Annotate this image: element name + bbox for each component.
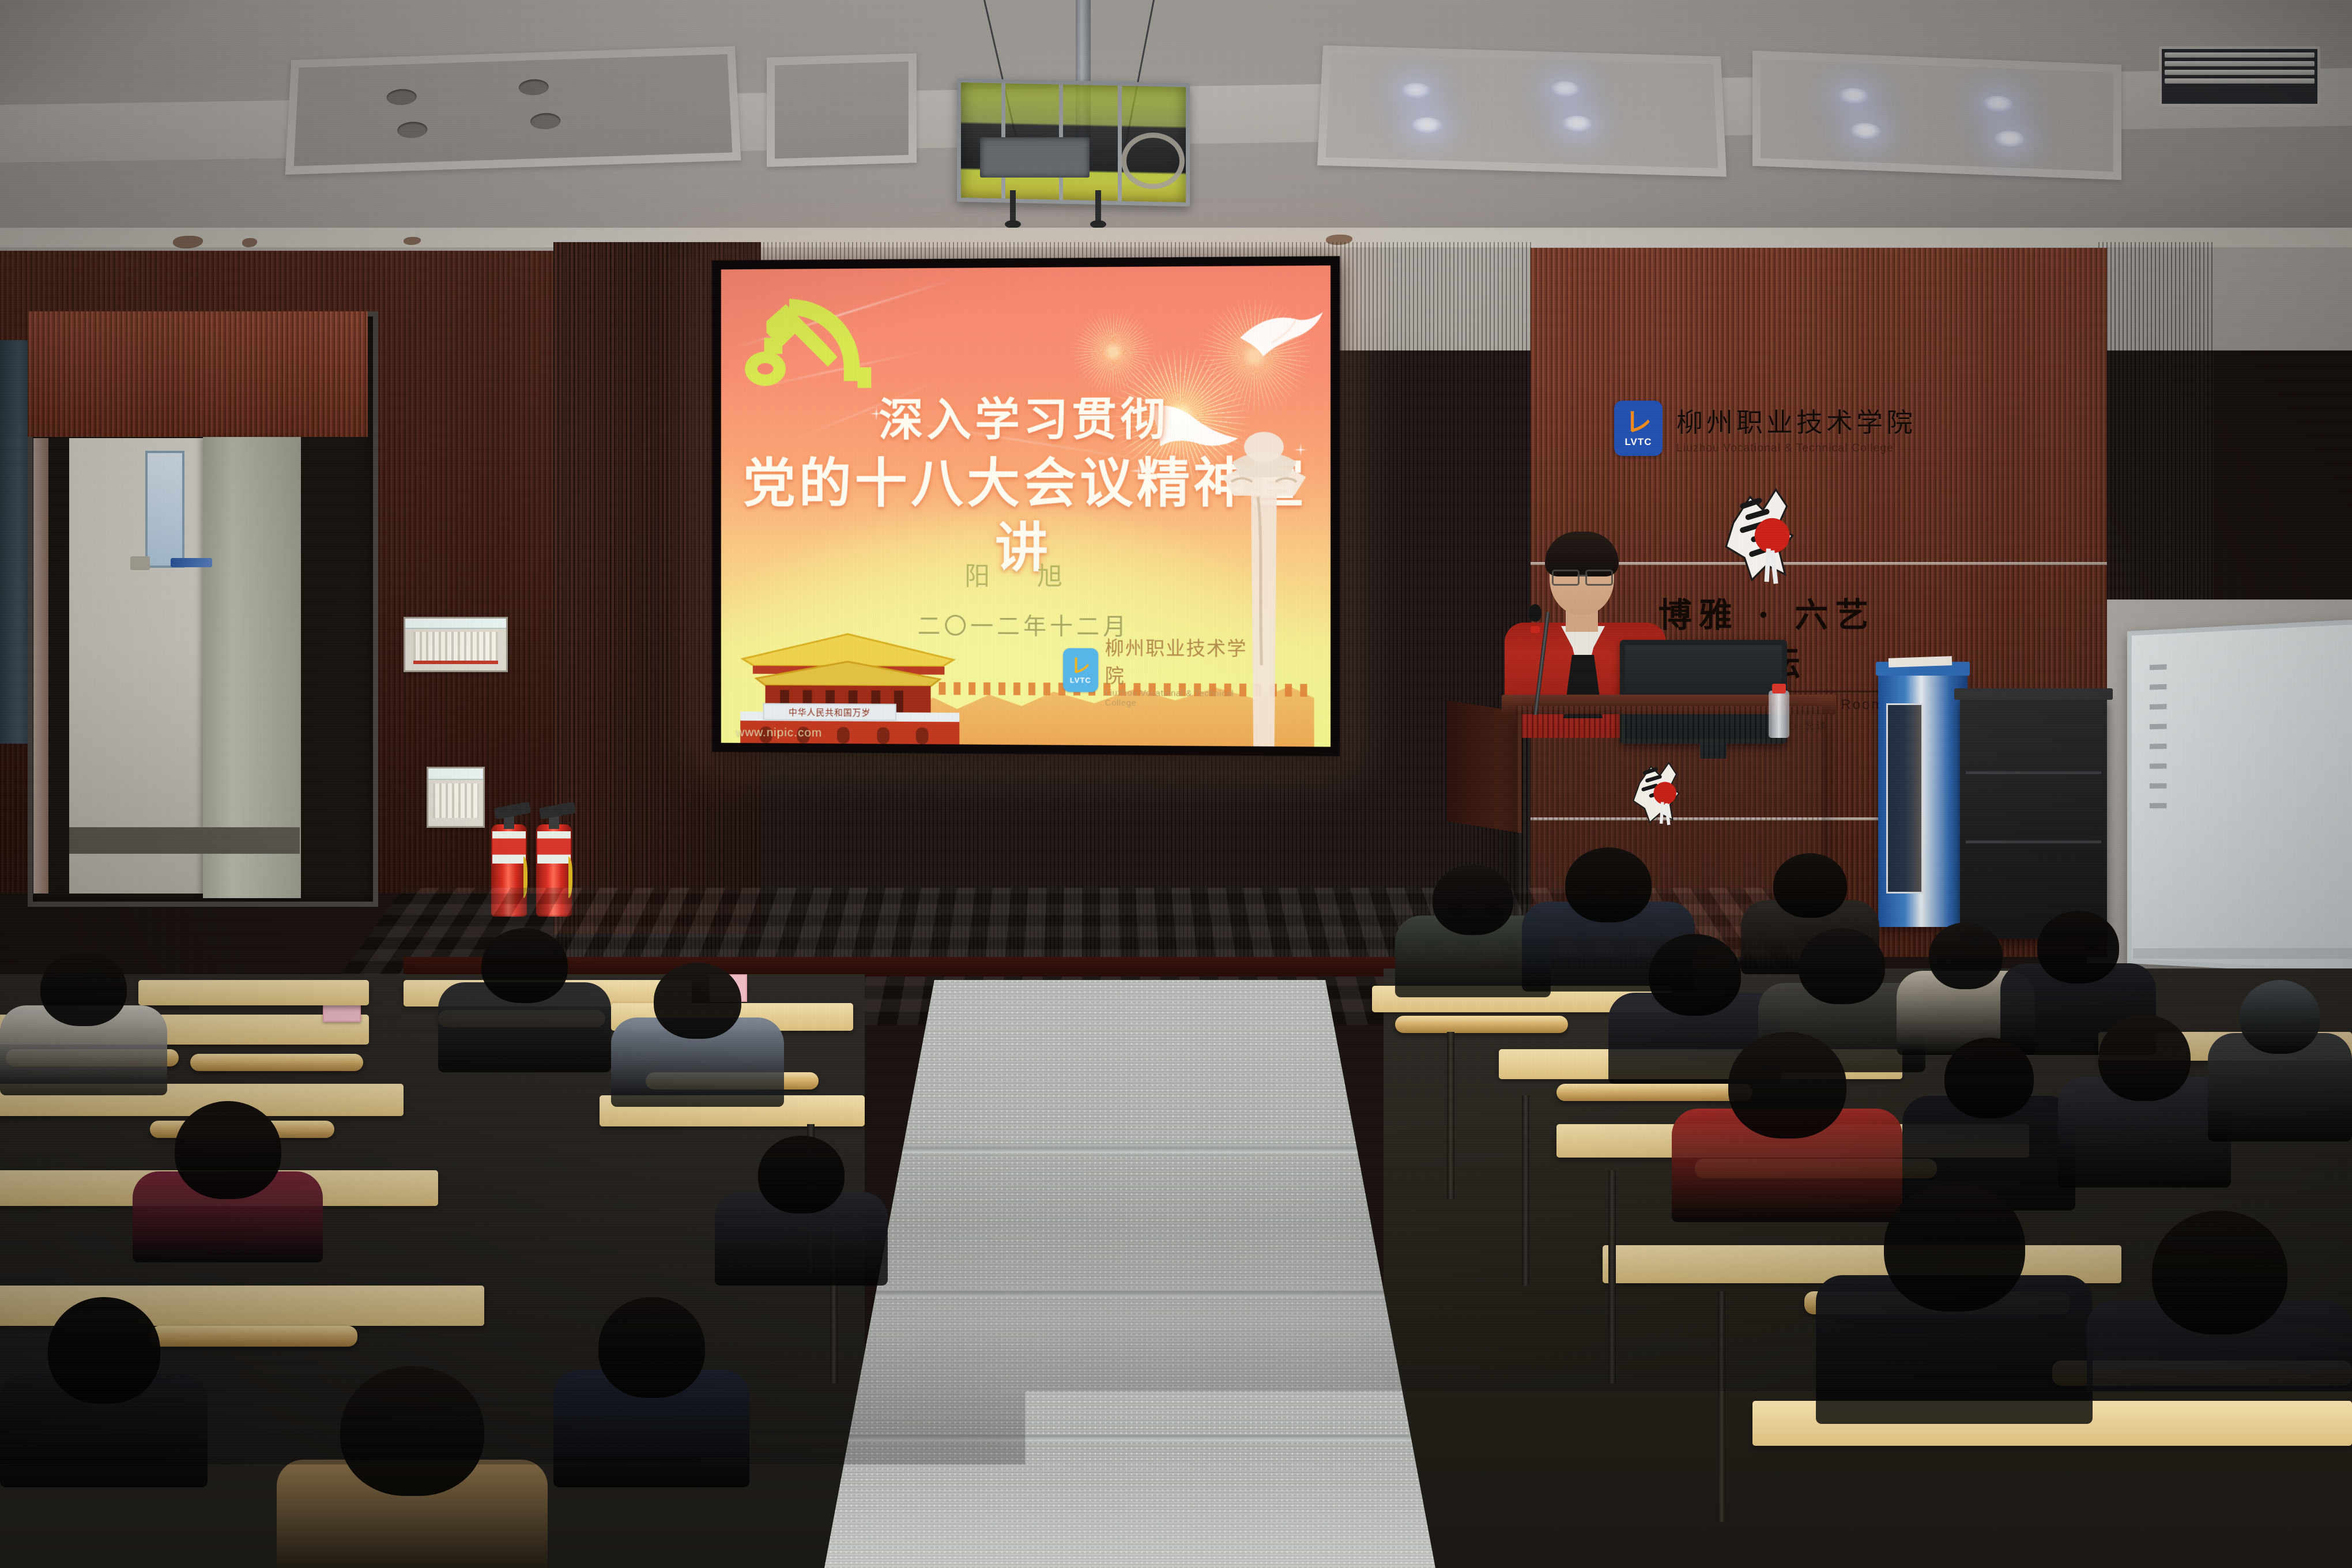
downlight-icon (519, 79, 549, 96)
downlight-icon (530, 112, 560, 130)
projector-adjuster (1095, 190, 1101, 223)
door-lock-icon[interactable] (130, 556, 150, 570)
person-head (1565, 847, 1652, 922)
person-head (175, 1101, 281, 1199)
wall-stain (242, 238, 257, 247)
projector-icon (980, 137, 1090, 178)
electrical-distribution-panel[interactable] (404, 617, 508, 672)
person-head (1799, 928, 1885, 1004)
slide-college-logo: レ LVTC 柳州职业技术学院 Liuzhou Vocational & Tec… (1063, 644, 1254, 696)
person-head (1773, 853, 1847, 918)
person-head (481, 928, 568, 1003)
downlight-icon (386, 89, 417, 105)
attendee-dark-navy (553, 1297, 749, 1487)
attendee-gray-blue (611, 963, 784, 1107)
microphone-indicator (1531, 626, 1540, 633)
blue-equipment-cabinet[interactable] (1878, 673, 1967, 927)
lvtc-tag: LVTC (1070, 676, 1091, 684)
calligraphy-seal-icon (1715, 478, 1807, 594)
door-header-panel (28, 311, 368, 437)
person-head (2152, 1211, 2287, 1335)
person-head (1649, 934, 1741, 1016)
projection-screen: 深入学习贯彻 党的十八大会议精神宣讲 阳 旭 二〇一二年十二月 (712, 256, 1340, 756)
door-jamb-trim (33, 438, 48, 894)
person-head (340, 1366, 484, 1496)
person-head (654, 963, 741, 1039)
person-head (1728, 1032, 1846, 1139)
ceiling-coffer-left (285, 46, 741, 175)
attendee-brown-collar (277, 1366, 548, 1568)
center-aisle-steps (824, 980, 1435, 1568)
dove-icon (1235, 306, 1329, 376)
attendee-black-jacket-c (0, 1297, 208, 1487)
corridor-baseboard (69, 827, 300, 854)
downlight-icon (1850, 122, 1880, 140)
person-head (1929, 922, 2003, 989)
microphone-head-icon (1529, 604, 1541, 621)
ceiling-vent-icon (2159, 46, 2320, 107)
water-bottle (1769, 691, 1789, 738)
downlight-icon (1983, 95, 2013, 112)
person-head (2098, 1015, 2191, 1101)
corridor-window (145, 451, 184, 568)
college-name-cn: 柳州职业技术学院 (1676, 402, 1916, 440)
coiled-cable (1121, 133, 1185, 189)
downlight-icon (397, 122, 428, 139)
downlight-icon (1401, 82, 1431, 99)
tiananmen-banner-text: 中华人民共和国万岁 (789, 706, 870, 718)
attendee-front-dark (1816, 1182, 2093, 1424)
college-sign: レ LVTC 柳州职业技术学院 Liuzhou Vocational & Tec… (1614, 401, 1916, 456)
whiteboard[interactable] (2127, 619, 2352, 977)
person-head (1884, 1182, 2025, 1311)
downlight-icon (1995, 130, 2025, 148)
tiananmen-banner: 中华人民共和国万岁 (763, 703, 896, 721)
person-head (2037, 911, 2119, 983)
door-handle-icon[interactable] (171, 558, 212, 567)
slide-logo-en: Liuzhou Vocational & Technical College (1105, 688, 1254, 709)
ceiling-coffer-far-right (1752, 51, 2121, 180)
wall-stain (173, 236, 203, 248)
black-av-rack[interactable] (1960, 696, 2107, 938)
attendee-white-jacket (0, 951, 167, 1095)
lvtc-logo-icon: レ LVTC (1063, 648, 1098, 692)
wall-stain (404, 237, 421, 245)
bench-seatback (190, 1054, 363, 1071)
person-head (758, 1136, 845, 1213)
person-head (1433, 865, 1513, 935)
nipic-watermark: www.nipic.com (736, 726, 822, 740)
attendee-dark-jacket (438, 928, 611, 1072)
ceiling-coffer-right (1317, 46, 1727, 177)
college-name-en: Liuzhou Vocational & Technical College (1676, 442, 1916, 455)
fire-alarm-panel[interactable] (427, 767, 485, 828)
attendee-front-right (2087, 1211, 2352, 1453)
attendee-maroon-sweater (133, 1101, 323, 1262)
attendee-long-hair (2058, 1015, 2231, 1188)
lvtc-glyph: レ (1071, 656, 1090, 676)
lectern-side (1447, 700, 1522, 834)
person-head (48, 1297, 160, 1404)
attendee-dark-coat-b (715, 1136, 888, 1286)
lvtc-glyph: レ (1625, 409, 1652, 435)
attendee-cap-gray (2208, 980, 2352, 1141)
person-head (598, 1297, 705, 1398)
projector-adjuster (1010, 190, 1016, 223)
slide-logo-cn: 柳州职业技术学院 (1105, 632, 1254, 689)
downlight-icon (1562, 115, 1593, 132)
downlight-icon (1551, 81, 1581, 97)
presentation-slide: 深入学习贯彻 党的十八大会议精神宣讲 阳 旭 二〇一二年十二月 (721, 265, 1330, 747)
person-head (2240, 980, 2320, 1054)
lvtc-tag: LVTC (1624, 436, 1652, 448)
lvtc-logo-icon: レ LVTC (1614, 401, 1663, 456)
downlight-icon (1839, 87, 1869, 104)
bench-seatback (1395, 1016, 1568, 1033)
lecture-hall-photo: レ LVTC 柳州职业技术学院 Liuzhou Vocational & Tec… (0, 0, 2352, 1568)
downlight-icon (1412, 117, 1442, 134)
ceiling-coffer-mid (767, 53, 917, 167)
person-head (1944, 1038, 2034, 1118)
person-head (40, 951, 127, 1026)
whiteboard-writing (2150, 664, 2167, 821)
lectern-seal-icon (1626, 755, 1689, 830)
whiteboard-tray (2133, 948, 2352, 959)
glasses-icon (1552, 570, 1613, 582)
bottle-cap (1772, 684, 1786, 693)
lecture-bench-desk (138, 980, 369, 1005)
